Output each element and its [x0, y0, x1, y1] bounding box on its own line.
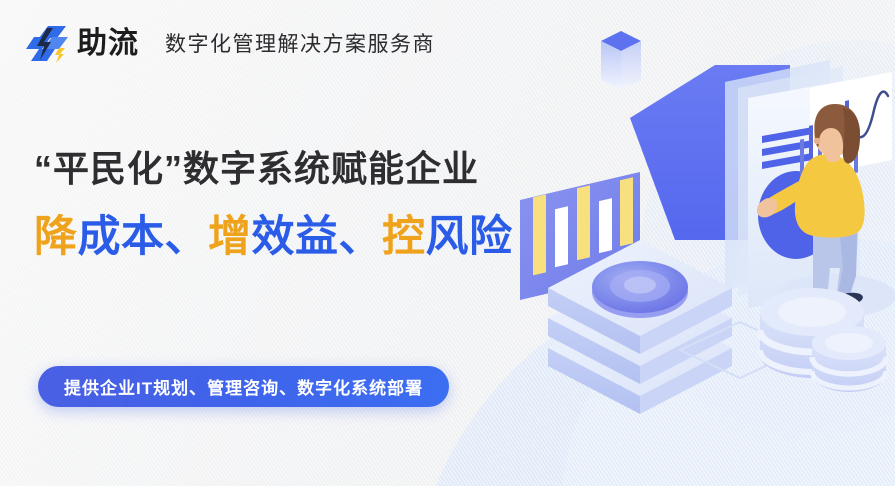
hero-headline-primary: “平民化”数字系统赋能企业	[34, 148, 479, 190]
hero-headline-secondary: 降成本、增效益、控风险	[34, 212, 513, 263]
brand-name: 助流	[77, 29, 139, 59]
hero-illustration	[500, 0, 895, 486]
floating-cube-icon	[601, 31, 641, 90]
headline-segment: 控	[382, 213, 426, 261]
headline-segment: 降	[34, 213, 78, 261]
headline-segment: 成本、	[78, 213, 209, 261]
brand-header: 助流 数字化管理解决方案服务商	[26, 24, 435, 64]
headline-segment: 风险	[426, 213, 513, 261]
brand-tagline: 数字化管理解决方案服务商	[165, 34, 435, 55]
promo-banner: 助流 数字化管理解决方案服务商 “平民化”数字系统赋能企业 降成本、增效益、控风…	[0, 0, 895, 486]
cta-services-button[interactable]: 提供企业IT规划、管理咨询、数字化系统部署	[38, 366, 449, 407]
zhuliu-bolt-logo-icon	[26, 24, 70, 64]
headline-segment: 增	[208, 213, 252, 261]
headline-segment: 效益、	[252, 213, 383, 261]
